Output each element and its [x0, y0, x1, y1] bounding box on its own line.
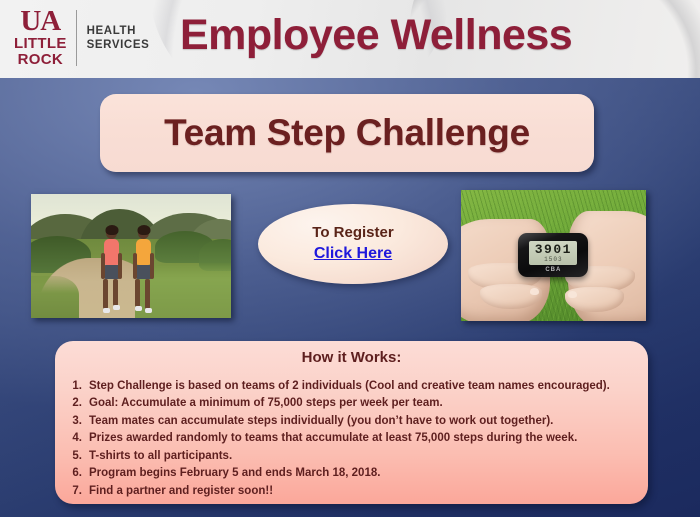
how-it-works-item: 4.Prizes awarded randomly to teams that … — [55, 430, 648, 447]
walker-arm — [118, 253, 122, 279]
how-it-works-item-text: Prizes awarded randomly to teams that ac… — [89, 430, 648, 447]
walker-shoe — [113, 305, 120, 310]
walker-legs — [103, 279, 120, 313]
logo-health-text: HEALTH — [87, 24, 150, 38]
logo-department: HEALTH SERVICES — [77, 8, 150, 68]
page-title: Employee Wellness — [180, 11, 572, 60]
photo-finger — [565, 287, 624, 312]
walker-shoe — [135, 306, 142, 311]
walker-leg — [103, 279, 108, 309]
how-it-works-item-text: Find a partner and register soon!! — [89, 483, 648, 500]
how-it-works-item-text: Goal: Accumulate a minimum of 75,000 ste… — [89, 395, 648, 412]
how-it-works-item-number: 3. — [64, 413, 89, 430]
click-here-link[interactable]: Click Here — [314, 243, 392, 265]
how-it-works-item: 6.Program begins February 5 and ends Mar… — [55, 465, 648, 482]
walker-leg — [145, 279, 150, 309]
how-it-works-item-number: 6. — [64, 465, 89, 482]
pedometer-device: 3901 1503 CBA — [518, 233, 588, 277]
how-it-works-item-text: Team mates can accumulate steps individu… — [89, 413, 648, 430]
how-it-works-item: 2.Goal: Accumulate a minimum of 75,000 s… — [55, 395, 648, 412]
how-it-works-item-text: Step Challenge is based on teams of 2 in… — [89, 378, 648, 395]
how-it-works-item: 1.Step Challenge is based on teams of 2 … — [55, 378, 648, 395]
how-it-works-item-text: T-shirts to all participants. — [89, 448, 648, 465]
walker-top — [136, 239, 151, 265]
banner-title: Team Step Challenge — [164, 112, 530, 154]
pedometer-screen: 3901 1503 — [529, 241, 577, 265]
pedometer-photo: 3901 1503 CBA — [461, 190, 646, 321]
pedometer-secondary-count: 1503 — [544, 257, 562, 263]
walker-hair — [137, 225, 150, 235]
photo-fingernail — [568, 291, 577, 298]
how-it-works-item-number: 4. — [64, 430, 89, 447]
how-it-works-list: 1.Step Challenge is based on teams of 2 … — [55, 378, 648, 500]
logo-little-text: LITTLE — [14, 36, 67, 52]
walker-hair — [105, 225, 118, 235]
how-it-works-title: How it Works: — [55, 349, 648, 366]
how-it-works-panel: How it Works: 1.Step Challenge is based … — [55, 341, 648, 504]
logo-wordmark: UA LITTLE ROCK — [14, 8, 76, 68]
walker-leg — [113, 279, 118, 306]
walker-arm — [101, 253, 105, 279]
how-it-works-item: 3.Team mates can accumulate steps indivi… — [55, 413, 648, 430]
how-it-works-item: 5.T-shirts to all participants. — [55, 448, 648, 465]
slide-canvas: UA LITTLE ROCK HEALTH SERVICES Employee … — [0, 0, 700, 517]
walker-leg — [135, 279, 140, 307]
walker-shoe — [103, 308, 110, 313]
photo-walker-figure — [135, 227, 152, 313]
walker-arm — [133, 253, 137, 279]
logo-rock-text: ROCK — [18, 52, 63, 68]
pedometer-brand-label: CBA — [518, 267, 588, 273]
register-callout[interactable]: To Register Click Here — [258, 204, 448, 284]
walker-arm — [150, 253, 154, 279]
walker-shoe — [145, 308, 152, 313]
photo-foreground-grass — [31, 276, 79, 318]
photo-walker-figure — [103, 227, 120, 313]
register-label: To Register — [312, 223, 393, 243]
how-it-works-item: 7.Find a partner and register soon!! — [55, 483, 648, 500]
how-it-works-item-number: 7. — [64, 483, 89, 500]
team-step-challenge-banner: Team Step Challenge — [100, 94, 594, 172]
photo-fingernail — [530, 288, 539, 295]
how-it-works-item-number: 1. — [64, 378, 89, 395]
ua-little-rock-logo: UA LITTLE ROCK HEALTH SERVICES — [14, 8, 149, 68]
walker-legs — [135, 279, 152, 313]
pedometer-step-count: 3901 — [535, 243, 572, 256]
page-header: UA LITTLE ROCK HEALTH SERVICES Employee … — [0, 0, 700, 78]
walker-top — [104, 239, 119, 265]
how-it-works-item-text: Program begins February 5 and ends March… — [89, 465, 648, 482]
walkers-photo — [31, 194, 231, 318]
logo-ua-text: UA — [20, 8, 60, 36]
how-it-works-item-number: 2. — [64, 395, 89, 412]
logo-services-text: SERVICES — [87, 38, 150, 52]
how-it-works-item-number: 5. — [64, 448, 89, 465]
